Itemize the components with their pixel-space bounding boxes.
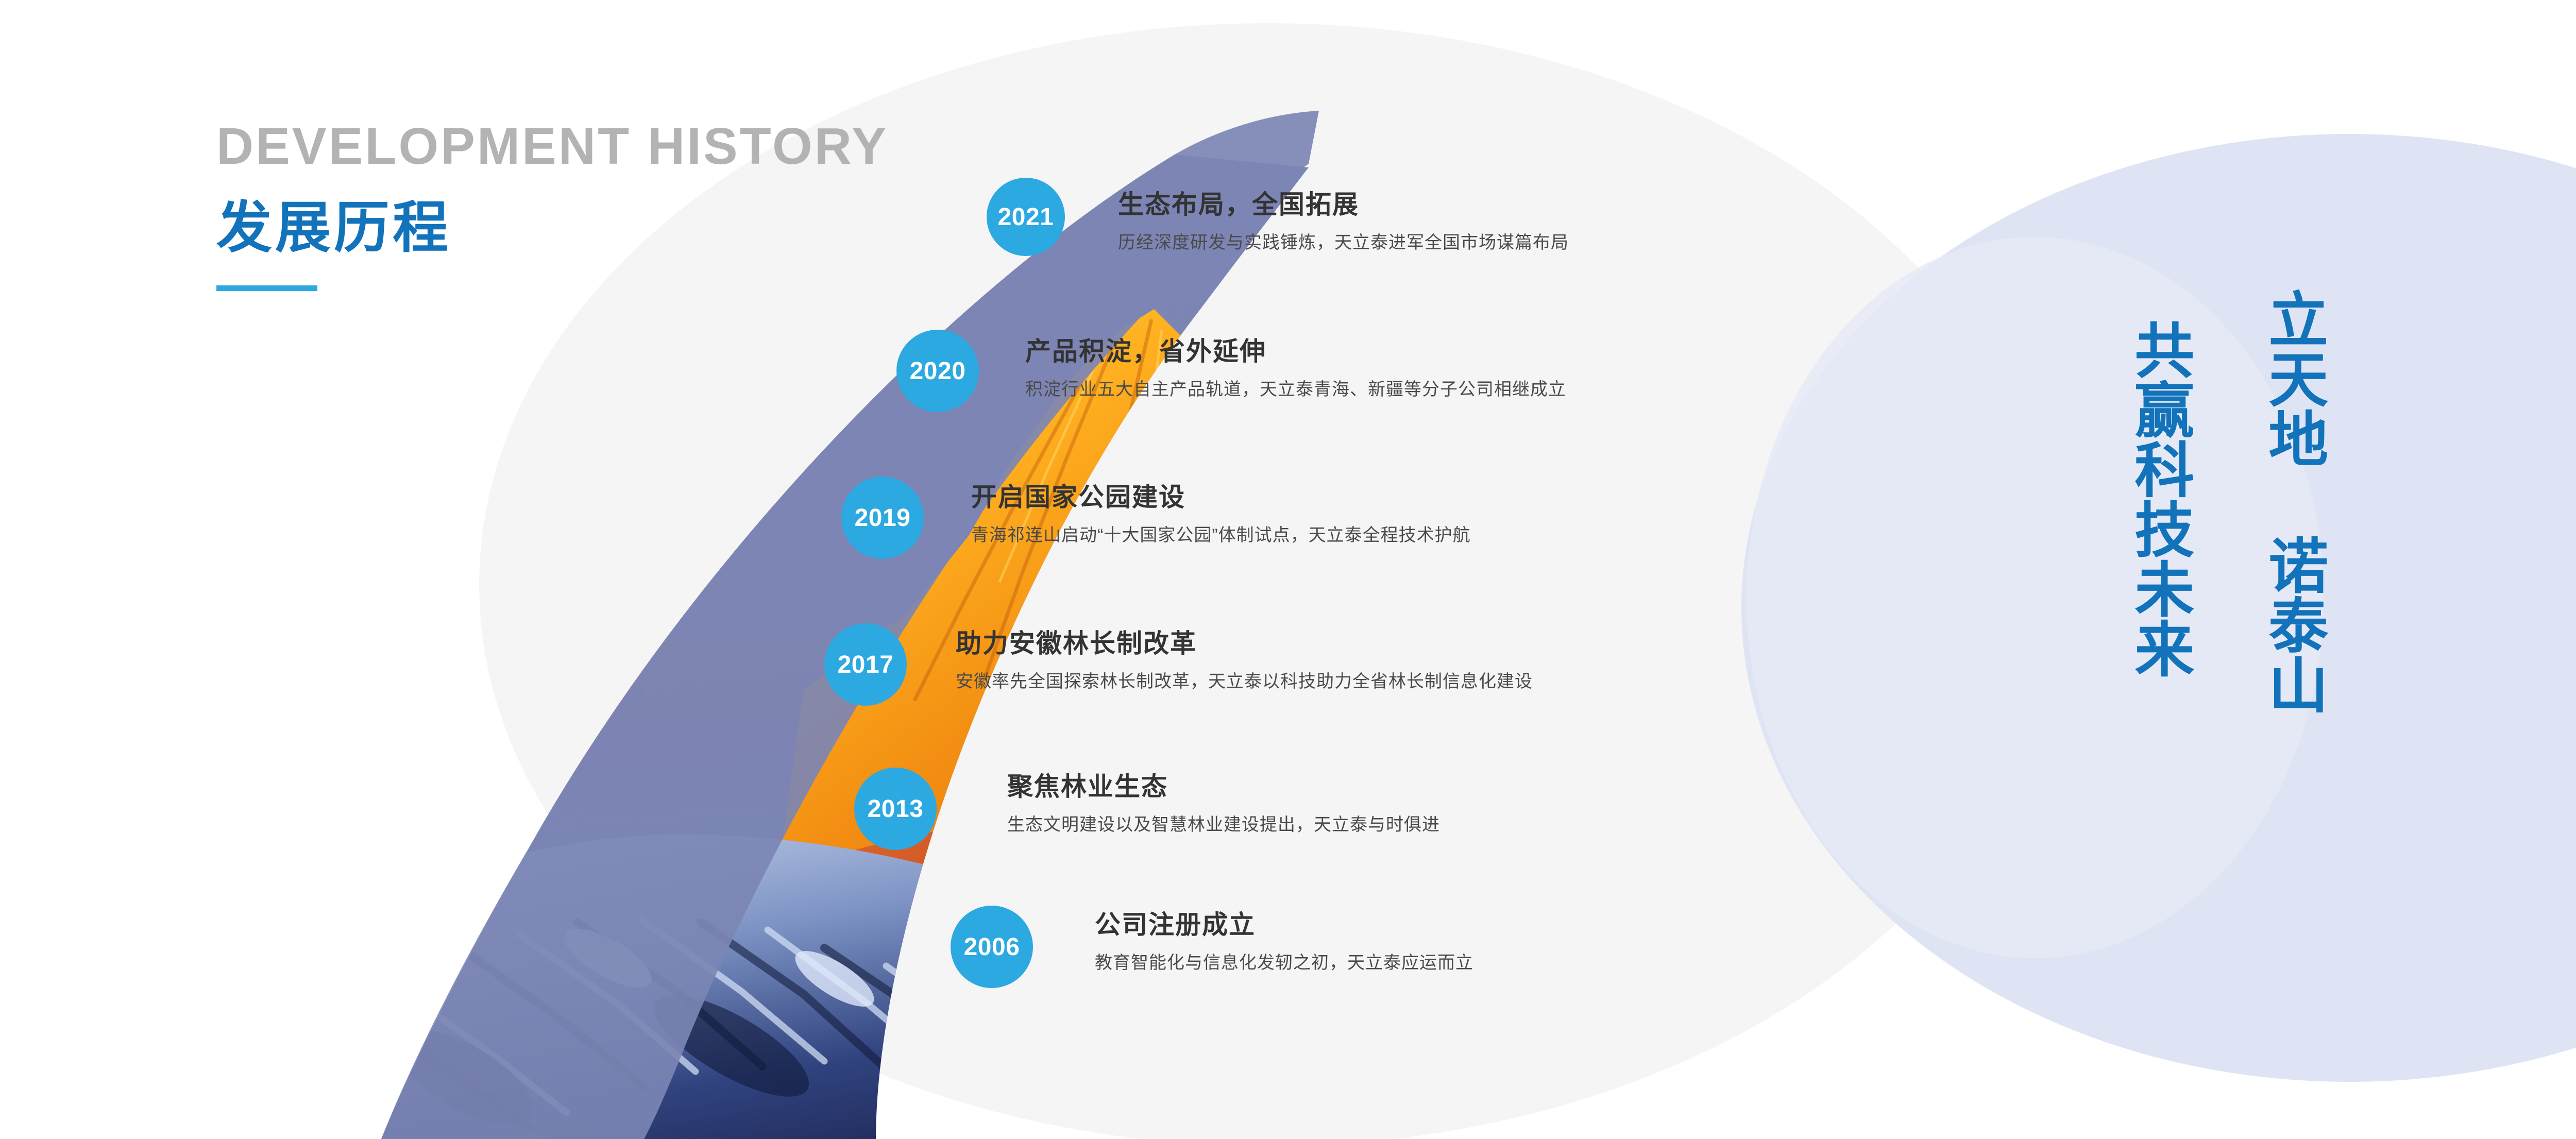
timeline-entry-title: 开启国家公园建设 bbox=[971, 483, 1471, 512]
timeline-year-badge[interactable]: 2013 bbox=[854, 768, 937, 850]
timeline-entry-title: 公司注册成立 bbox=[1095, 911, 1473, 939]
timeline-entry-text: 生态布局，全国拓展 历经深度研发与实践锤炼，天立泰进军全国市场谋篇布局 bbox=[1118, 191, 1569, 253]
timeline-entry-desc: 青海祁连山启动“十大国家公园”体制试点，天立泰全程技术护航 bbox=[971, 525, 1471, 546]
timeline-entry-title: 生态布局，全国拓展 bbox=[1118, 191, 1569, 219]
timeline-entry-desc: 积淀行业五大自主产品轨道，天立泰青海、新疆等分子公司相继成立 bbox=[1025, 379, 1566, 400]
timeline-entry-title: 聚焦林业生态 bbox=[1007, 773, 1440, 801]
timeline-entry-desc: 历经深度研发与实践锤炼，天立泰进军全国市场谋篇布局 bbox=[1118, 232, 1569, 253]
timeline-entry-desc: 教育智能化与信息化发轫之初，天立泰应运而立 bbox=[1095, 953, 1473, 974]
timeline-year-badge[interactable]: 2017 bbox=[824, 623, 907, 706]
timeline-entry-text: 聚焦林业生态 生态文明建设以及智慧林业建设提出，天立泰与时俱进 bbox=[1007, 773, 1440, 836]
timeline-entry-desc: 安徽率先全国探索林长制改革，天立泰以科技助力全省林长制信息化建设 bbox=[956, 671, 1533, 692]
timeline-year-badge[interactable]: 2019 bbox=[841, 477, 924, 559]
timeline-entry-text: 助力安徽林长制改革 安徽率先全国探索林长制改革，天立泰以科技助力全省林长制信息化… bbox=[956, 630, 1533, 692]
timeline-entry-desc: 生态文明建设以及智慧林业建设提出，天立泰与时俱进 bbox=[1007, 814, 1440, 836]
timeline-entry-title: 助力安徽林长制改革 bbox=[956, 630, 1533, 658]
timeline-entry-text: 产品积淀，省外延伸 积淀行业五大自主产品轨道，天立泰青海、新疆等分子公司相继成立 bbox=[1025, 337, 1566, 400]
timeline-year-badge[interactable]: 2006 bbox=[951, 906, 1033, 988]
timeline-entry-text: 开启国家公园建设 青海祁连山启动“十大国家公园”体制试点，天立泰全程技术护航 bbox=[971, 483, 1471, 546]
timeline-year-badge[interactable]: 2021 bbox=[987, 178, 1065, 256]
timeline-entry-text: 公司注册成立 教育智能化与信息化发轫之初，天立泰应运而立 bbox=[1095, 911, 1473, 974]
timeline-entry-title: 产品积淀，省外延伸 bbox=[1025, 337, 1566, 366]
timeline-year-badge[interactable]: 2020 bbox=[896, 330, 979, 412]
development-timeline: 2021 生态布局，全国拓展 历经深度研发与实践锤炼，天立泰进军全国市场谋篇布局… bbox=[0, 0, 2576, 1139]
